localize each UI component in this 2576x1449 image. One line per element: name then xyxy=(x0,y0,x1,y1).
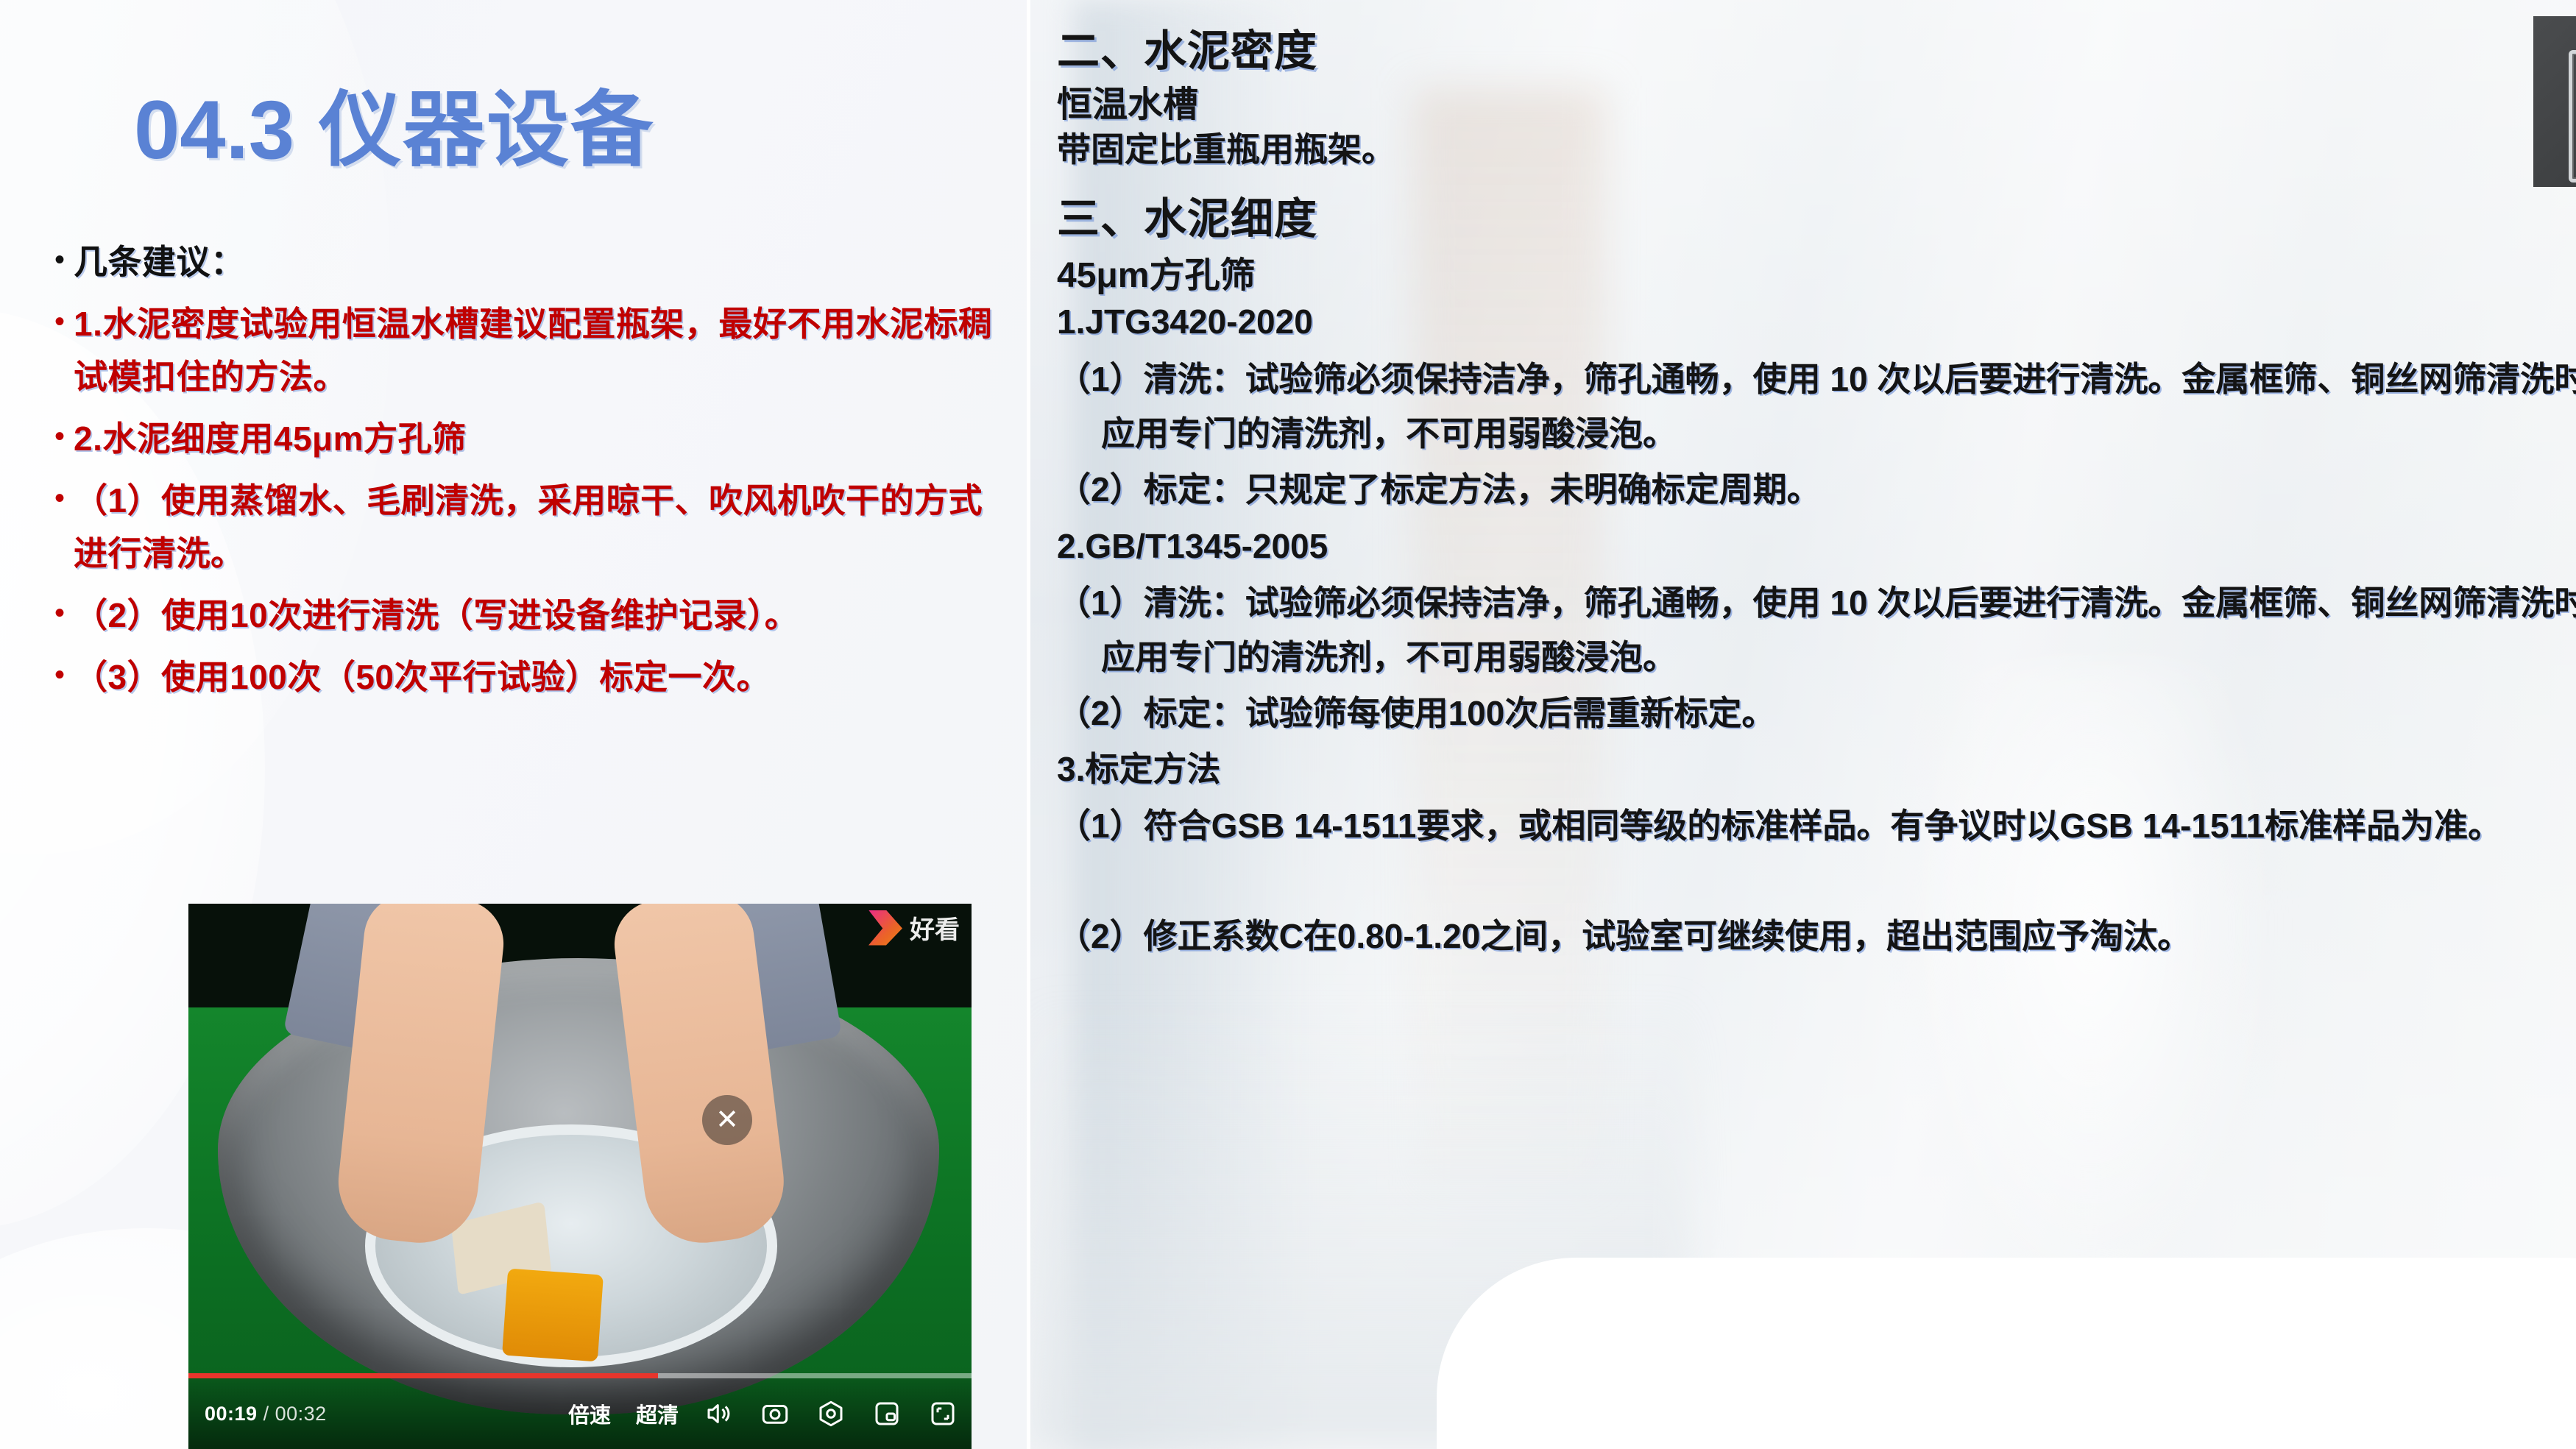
video-progress-fill xyxy=(188,1373,658,1378)
page-title-number: 04.3 xyxy=(134,84,294,176)
standard-gbt1345-title: 2.GB/T1345-2005 xyxy=(1057,519,1328,573)
decorative-white-rounded-shape xyxy=(1437,1258,2576,1449)
calibration-method-title: 3.标定方法 xyxy=(1057,742,1220,796)
section-heading-cement-fineness: 三、水泥细度 xyxy=(1057,184,1317,246)
video-progress-bar[interactable] xyxy=(188,1373,972,1378)
video-time-separator: / xyxy=(258,1403,275,1425)
standard-gbt1345-item-1: （1）清洗：试验筛必须保持洁净，筛孔通畅，使用 10 次以后要进行清洗。金属框筛… xyxy=(1057,575,2576,684)
list-item-text: 几条建议： xyxy=(74,235,1002,288)
bullet-dot-icon: • xyxy=(46,589,74,637)
bullet-dot-icon: • xyxy=(46,474,74,522)
list-item: • 2.水泥细度用45μm方孔筛 xyxy=(46,412,1002,465)
video-player[interactable]: 好看 00:19 / 00:32 倍速 超清 xyxy=(188,904,972,1449)
video-tools: 倍速 超清 xyxy=(568,1398,958,1429)
video-frame xyxy=(188,904,972,1449)
slide-root: 04.3 仪器设备 • 几条建议： • 1.水泥密度试验用恒温水槽建议配置瓶架，… xyxy=(0,0,2576,1449)
picture-in-picture-icon[interactable] xyxy=(871,1398,902,1429)
standard-jtg3420-item-2: （2）标定：只规定了标定方法，未明确标定周期。 xyxy=(1057,462,2576,517)
left-panel: 04.3 仪器设备 • 几条建议： • 1.水泥密度试验用恒温水槽建议配置瓶架，… xyxy=(0,0,1027,1449)
background-blur-glow xyxy=(1899,662,2282,1325)
video-quality-button[interactable]: 超清 xyxy=(636,1398,679,1429)
standard-jtg3420-item-1: （1）清洗：试验筛必须保持洁净，筛孔通畅，使用 10 次以后要进行清洗。金属框筛… xyxy=(1057,352,2576,461)
subheading-constant-temp-tank: 恒温水槽 xyxy=(1057,75,1198,127)
list-item-text: （3）使用100次（50次平行试验）标定一次。 xyxy=(74,651,1002,704)
video-time-display: 00:19 / 00:32 xyxy=(205,1403,327,1425)
list-item: • （1）使用蒸馏水、毛刷清洗，采用晾干、吹风机吹干的方式进行清洗。 xyxy=(46,474,1002,580)
volume-icon[interactable] xyxy=(704,1398,735,1429)
right-panel: 标 准 样 品 GSB 14-1511 表 面 积 标 准 空隙率：0.500 … xyxy=(1030,0,2576,1449)
video-total-time: 00:32 xyxy=(275,1403,327,1425)
subheading-45um-sieve: 45μm方孔筛 xyxy=(1057,246,1255,297)
record-icon[interactable] xyxy=(815,1398,846,1429)
bullet-dot-icon: • xyxy=(46,235,74,284)
bullet-dot-icon: • xyxy=(46,651,74,699)
page-title-text: 仪器设备 xyxy=(319,84,654,176)
haokan-logo-icon xyxy=(868,910,902,946)
list-item-text: 1.水泥密度试验用恒温水槽建议配置瓶架，最好不用水泥标稠试模扣住的方法。 xyxy=(74,297,1002,403)
list-item: • （3）使用100次（50次平行试验）标定一次。 xyxy=(46,651,1002,704)
bullet-dot-icon: • xyxy=(46,297,74,346)
bullet-dot-icon: • xyxy=(46,412,74,461)
snapshot-icon[interactable] xyxy=(760,1398,790,1429)
calibration-method-item-2: （2）修正系数C在0.80-1.20之间，试验室可继续使用，超出范围应予淘汰。 xyxy=(1057,909,2576,963)
video-controls: 00:19 / 00:32 倍速 超清 xyxy=(188,1378,972,1449)
bullet-list: • 几条建议： • 1.水泥密度试验用恒温水槽建议配置瓶架，最好不用水泥标稠试模… xyxy=(46,235,1002,712)
standard-jtg3420-title: 1.JTG3420-2020 xyxy=(1057,294,1313,349)
page-title: 04.3 仪器设备 xyxy=(134,63,654,183)
list-item-text: （2）使用10次进行清洗（写进设备维护记录）。 xyxy=(74,589,1002,642)
video-specimen-block xyxy=(502,1269,604,1362)
photo-rack-frame xyxy=(2569,50,2576,183)
list-item: • 1.水泥密度试验用恒温水槽建议配置瓶架，最好不用水泥标稠试模扣住的方法。 xyxy=(46,297,1002,403)
list-item: • （2）使用10次进行清洗（写进设备维护记录）。 xyxy=(46,589,1002,642)
list-item-text: （1）使用蒸馏水、毛刷清洗，采用晾干、吹风机吹干的方式进行清洗。 xyxy=(74,474,1002,580)
close-icon[interactable]: ✕ xyxy=(702,1095,752,1145)
calibration-method-item-1: （1）符合GSB 14-1511要求，或相同等级的标准样品。有争议时以GSB 1… xyxy=(1057,798,2576,853)
standard-gbt1345-item-2: （2）标定：试验筛每使用100次后需重新标定。 xyxy=(1057,686,2576,740)
list-item-text: 2.水泥细度用45μm方孔筛 xyxy=(74,412,1002,465)
video-watermark-text: 好看 xyxy=(910,910,960,946)
video-current-time: 00:19 xyxy=(205,1403,258,1425)
section-heading-cement-density: 二、水泥密度 xyxy=(1057,16,1317,78)
photo-pycnometer-rack xyxy=(2533,16,2576,187)
text-bottle-rack: 带固定比重瓶用瓶架。 xyxy=(1057,122,1837,177)
playback-speed-button[interactable]: 倍速 xyxy=(568,1398,611,1429)
list-item: • 几条建议： xyxy=(46,235,1002,288)
fullscreen-icon[interactable] xyxy=(927,1398,958,1429)
video-watermark: 好看 xyxy=(868,910,960,946)
